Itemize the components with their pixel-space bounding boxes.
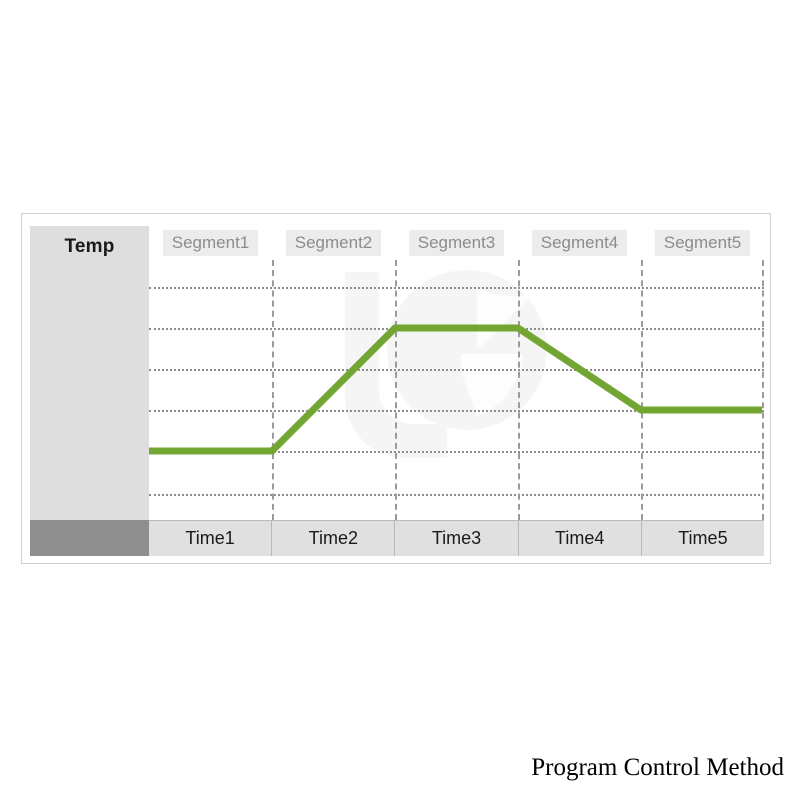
segment-chip-3: Segment3 (409, 230, 505, 256)
time-footer-row: Time1 Time2 Time3 Time4 Time5 (149, 520, 764, 556)
y-axis-label: Temp (30, 236, 149, 258)
segment-header-row: Segment1 Segment2 Segment3 Segment4 Segm… (149, 226, 764, 260)
segment-chip-4: Segment4 (532, 230, 628, 256)
time-cell-2: Time2 (272, 521, 395, 556)
axis-corner-block (30, 520, 149, 556)
temperature-profile-line (149, 260, 764, 520)
segment-header-cell-5: Segment5 (641, 226, 764, 260)
segment-header-cell-1: Segment1 (149, 226, 272, 260)
program-control-chart-panel: Temp Segment1 Segment2 Segment3 Segment4… (21, 213, 771, 564)
time-cell-1: Time1 (149, 521, 272, 556)
time-cell-5: Time5 (642, 521, 764, 556)
y-axis-label-column: Temp (30, 226, 149, 520)
segment-header-cell-2: Segment2 (272, 226, 395, 260)
segment-header-cell-4: Segment4 (518, 226, 641, 260)
time-cell-3: Time3 (395, 521, 518, 556)
time-cell-4: Time4 (519, 521, 642, 556)
figure-caption: Program Control Method (531, 754, 784, 782)
segment-chip-1: Segment1 (163, 230, 259, 256)
segment-chip-5: Segment5 (655, 230, 751, 256)
plot-area (149, 260, 764, 520)
segment-header-cell-3: Segment3 (395, 226, 518, 260)
segment-chip-2: Segment2 (286, 230, 382, 256)
